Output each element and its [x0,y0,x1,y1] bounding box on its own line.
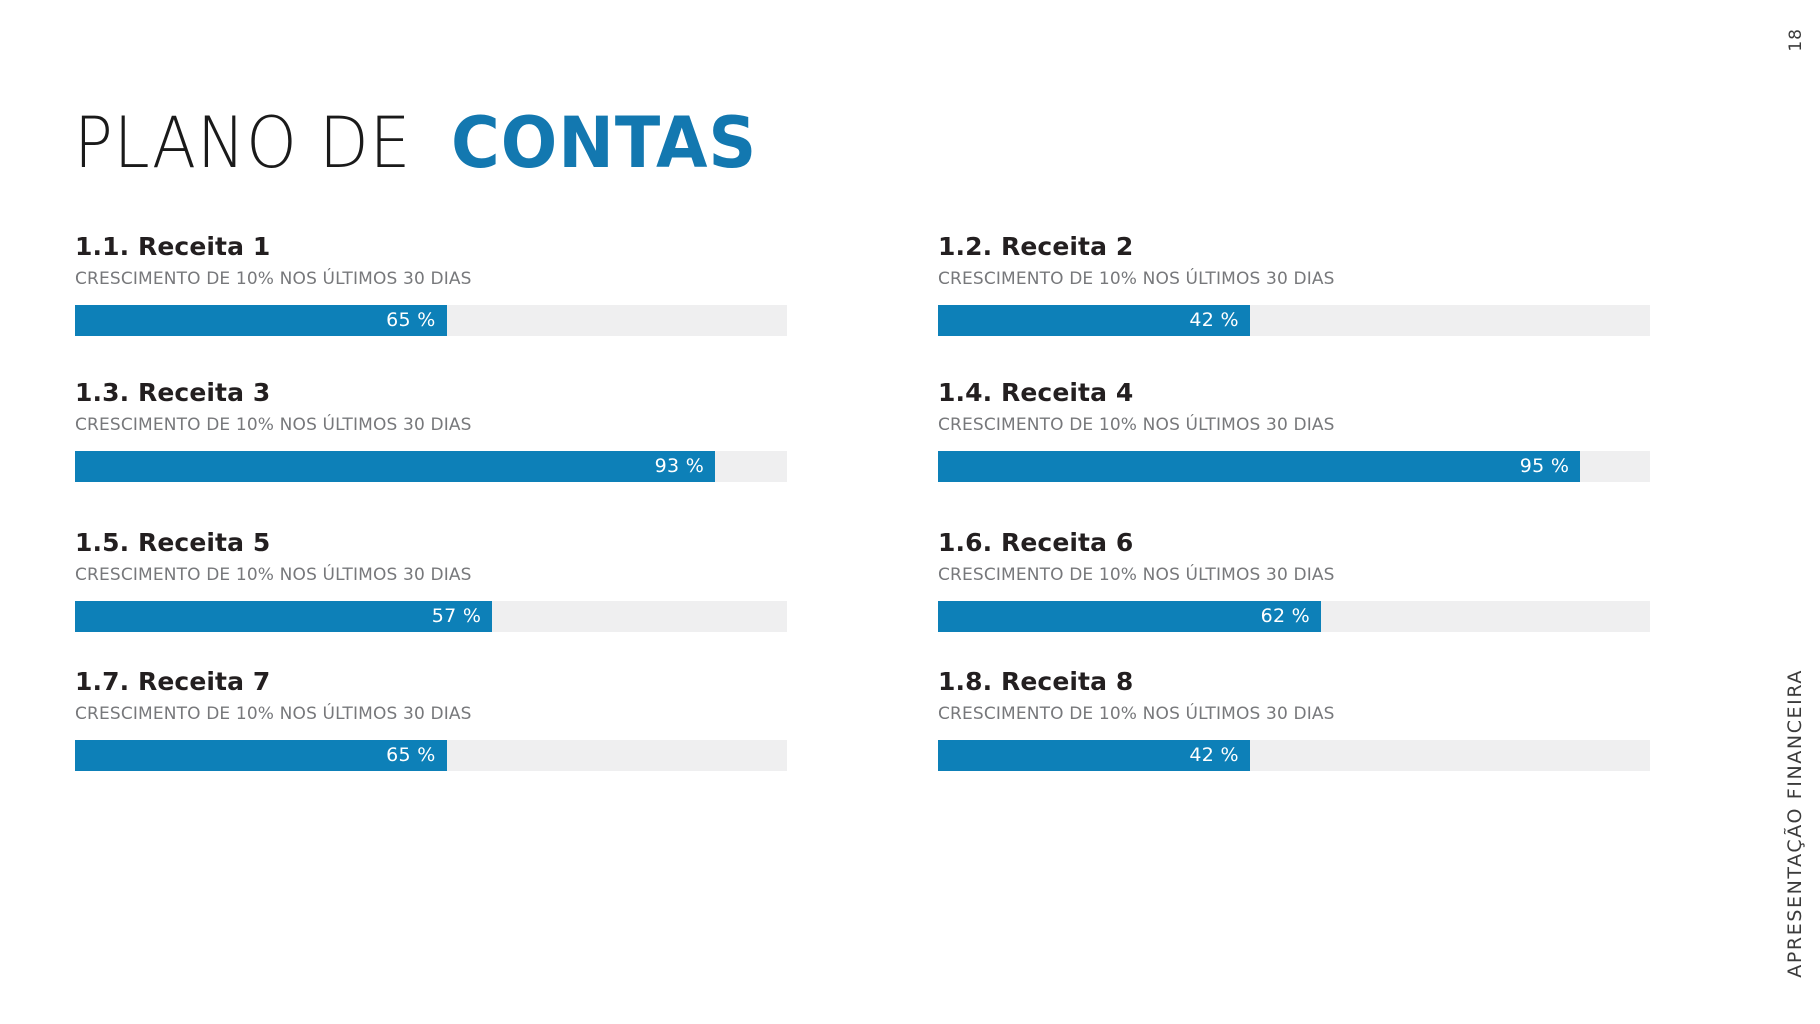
page-number: 18 [1786,28,1806,52]
metric-title: 1.1. Receita 1 [75,232,787,262]
metric-subtitle: CRESCIMENTO DE 10% NOS ÚLTIMOS 30 DIAS [75,564,787,586]
progress-bar-fill: 93 % [75,451,715,482]
metrics-grid: 1.1. Receita 1CRESCIMENTO DE 10% NOS ÚLT… [75,232,1650,852]
page-title: PLANO DECONTAS [74,103,773,183]
metric-card: 1.3. Receita 3CRESCIMENTO DE 10% NOS ÚLT… [75,378,787,482]
metric-subtitle: CRESCIMENTO DE 10% NOS ÚLTIMOS 30 DIAS [938,414,1650,436]
metric-card: 1.1. Receita 1CRESCIMENTO DE 10% NOS ÚLT… [75,232,787,336]
progress-bar-track: 42 % [938,740,1650,771]
metric-title: 1.5. Receita 5 [75,528,787,558]
progress-bar-value: 65 % [386,744,446,766]
page-title-accent: CONTAS [451,103,757,183]
progress-bar-track: 65 % [75,740,787,771]
metric-subtitle: CRESCIMENTO DE 10% NOS ÚLTIMOS 30 DIAS [75,414,787,436]
metric-title: 1.2. Receita 2 [938,232,1650,262]
progress-bar-fill: 65 % [75,740,447,771]
progress-bar-value: 65 % [386,309,446,331]
progress-bar-fill: 57 % [75,601,492,632]
metric-subtitle: CRESCIMENTO DE 10% NOS ÚLTIMOS 30 DIAS [75,703,787,725]
progress-bar-value: 62 % [1261,605,1321,627]
progress-bar-value: 42 % [1189,309,1249,331]
progress-bar-track: 65 % [75,305,787,336]
progress-bar-value: 57 % [432,605,492,627]
progress-bar-track: 62 % [938,601,1650,632]
metric-subtitle: CRESCIMENTO DE 10% NOS ÚLTIMOS 30 DIAS [75,268,787,290]
metric-title: 1.4. Receita 4 [938,378,1650,408]
progress-bar-fill: 42 % [938,305,1250,336]
progress-bar-track: 42 % [938,305,1650,336]
slide-canvas: PLANO DECONTAS 1.1. Receita 1CRESCIMENTO… [0,0,1820,1024]
progress-bar-track: 57 % [75,601,787,632]
metric-subtitle: CRESCIMENTO DE 10% NOS ÚLTIMOS 30 DIAS [938,564,1650,586]
progress-bar-fill: 65 % [75,305,447,336]
metric-title: 1.6. Receita 6 [938,528,1650,558]
progress-bar-track: 95 % [938,451,1650,482]
metric-card: 1.2. Receita 2CRESCIMENTO DE 10% NOS ÚLT… [938,232,1650,336]
progress-bar-value: 95 % [1520,455,1580,477]
progress-bar-fill: 95 % [938,451,1580,482]
metric-card: 1.7. Receita 7CRESCIMENTO DE 10% NOS ÚLT… [75,667,787,771]
metric-title: 1.3. Receita 3 [75,378,787,408]
progress-bar-fill: 62 % [938,601,1321,632]
progress-bar-value: 42 % [1189,744,1249,766]
metric-card: 1.8. Receita 8CRESCIMENTO DE 10% NOS ÚLT… [938,667,1650,771]
progress-bar-track: 93 % [75,451,787,482]
metric-card: 1.4. Receita 4CRESCIMENTO DE 10% NOS ÚLT… [938,378,1650,482]
metric-card: 1.6. Receita 6CRESCIMENTO DE 10% NOS ÚLT… [938,528,1650,632]
metric-card: 1.5. Receita 5CRESCIMENTO DE 10% NOS ÚLT… [75,528,787,632]
page-title-light: PLANO DE [74,103,411,183]
metric-subtitle: CRESCIMENTO DE 10% NOS ÚLTIMOS 30 DIAS [938,268,1650,290]
progress-bar-value: 93 % [655,455,715,477]
progress-bar-fill: 42 % [938,740,1250,771]
metric-subtitle: CRESCIMENTO DE 10% NOS ÚLTIMOS 30 DIAS [938,703,1650,725]
metric-title: 1.8. Receita 8 [938,667,1650,697]
metric-title: 1.7. Receita 7 [75,667,787,697]
deck-side-label: APRESENTAÇÃO FINANCEIRA [1784,669,1806,978]
